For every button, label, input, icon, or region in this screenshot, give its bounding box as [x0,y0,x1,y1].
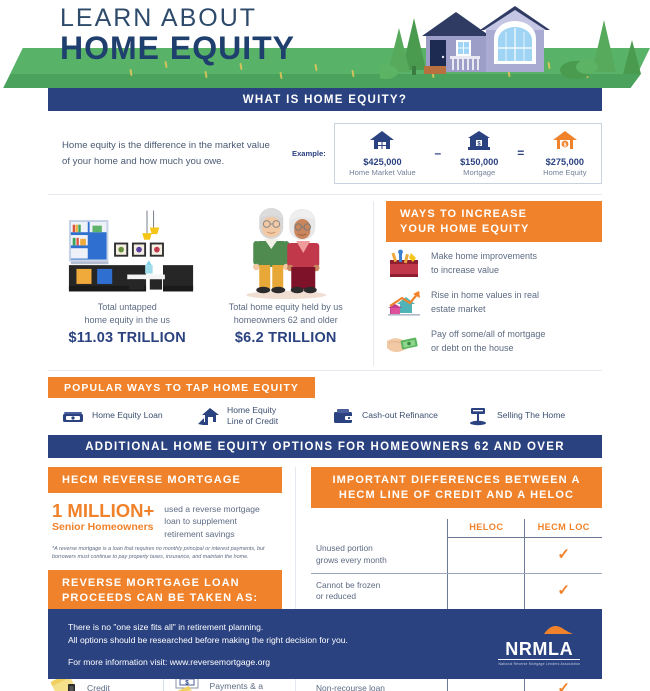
check-icon: ✓ [557,583,570,598]
million-stat-number: 1 MILLION+ [52,501,154,520]
for-sale-sign-icon [467,406,489,426]
popular-way-item: Selling The Home [467,406,598,426]
proceeds-banner-line-2: PROCEEDS CAN BE TAKEN AS: [62,591,268,606]
way-text-line-2: to increase value [431,265,499,275]
way-text-line-1: Rise in home values in real [431,290,539,300]
nrmla-logo: NRMLA National Reverse Mortgage Lenders … [498,622,584,666]
example-label: Example: [292,149,326,158]
additional-options-banner: ADDITIONAL HOME EQUITY OPTIONS FOR HOMEO… [48,435,602,458]
stat-senior-equity: Total home equity held by us homeowners … [207,201,366,366]
home-equity-description: Home equity is the difference in the mar… [62,138,280,169]
hecm-reverse-mortgage-banner: HECM REVERSE MORTGAGE [48,467,282,493]
bank-icon: $ [466,129,492,151]
row-label-line-1: Unused portion [316,543,373,553]
popular-way-text: Home Equity Loan [92,410,163,422]
row-label-line-2: or reduced [316,591,356,601]
way-text-line-2: estate market [431,304,486,314]
way-text: Pay off some/all of mortgage or debt on … [431,328,545,355]
check-icon: ✓ [557,681,570,691]
example-label-text: Home Equity [543,168,586,177]
example-item-mortgage: $ $150,000 Mortgage [460,129,498,177]
comparison-banner-line-2: HECM LINE OF CREDIT AND A HELOC [325,488,588,503]
ways-list: Make home improvements to increase value [386,249,602,357]
cash-in-hand-icon [386,327,422,357]
example-amount: $275,000 [543,157,586,167]
footer-text: There is no "one size fits all" in retir… [68,621,498,667]
popular-way-item: Cash-out Refinance [332,406,463,426]
nrmla-wordmark: NRMLA [498,640,580,660]
stat-caption: Total untapped home equity in the us [52,301,203,327]
heloc-cell [448,573,525,610]
popular-way-line-1: Home Equity [227,405,276,415]
footer-line-1: There is no "one size fits all" in retir… [68,621,498,634]
footer: There is no "one size fits all" in retir… [48,609,602,679]
example-amount: $425,000 [349,157,416,167]
stat-value: $6.2 TRILLION [211,330,362,346]
popular-way-item: Home Equity Line of Credit [197,405,328,428]
page-title: LEARN ABOUT HOME EQUITY [60,4,295,66]
toolbox-icon [386,249,422,279]
what-is-home-equity-banner: WHAT IS HOME EQUITY? [48,88,602,111]
ways-to-increase-banner: WAYS TO INCREASE YOUR HOME EQUITY [386,201,602,242]
example-card: $425,000 Home Market Value – $ $150,000 … [334,123,602,184]
proceeds-line-2: Payments & a [210,681,264,691]
popular-way-text: Cash-out Refinance [362,410,438,422]
title-line-1: LEARN ABOUT [60,4,295,32]
svg-text:$: $ [563,142,566,148]
stats-and-ways-section: Total untapped home equity in the us $11… [0,195,650,370]
popular-way-line-1: Selling The Home [497,410,565,420]
example-amount: $150,000 [460,157,498,167]
minus-operator: – [433,146,444,160]
title-line-2: HOME EQUITY [60,32,295,66]
row-label-line-2: grows every month [316,555,387,565]
stat-caption-line-2: homeowners 62 and older [234,315,338,325]
stat-caption-line-1: Total untapped [98,302,157,312]
footer-line-2: All options should be researched before … [68,634,498,647]
million-stat-subtitle: Senior Homeowners [52,521,154,534]
house-icon [369,129,395,151]
example-label-text: Mortgage [460,168,498,177]
heloc-cell [448,537,525,573]
house-scene-illustration [380,0,650,88]
hecm-footnote: *A reverse mortgage is a loan that requi… [48,540,282,562]
senior-couple-illustration [211,201,362,299]
ways-banner-line-1: WAYS TO INCREASE [400,207,588,222]
svg-text:$: $ [185,679,189,686]
house-arrow-icon [197,406,219,426]
row-label-line-1: Cannot be frozen [316,580,380,590]
house-equity-icon: $ [552,129,578,151]
comparison-banner-line-1: IMPORTANT DIFFERENCES BETWEEN A [325,473,588,488]
table-row: Cannot be frozen or reduced ✓ [311,573,602,610]
popular-way-line-1: Home Equity Loan [92,410,163,420]
stat-caption-line-1: Total home equity held by us [229,302,343,312]
example-item-market-value: $425,000 Home Market Value [349,129,416,177]
column-header-heloc: HELOC [448,519,525,538]
cash-stack-icon [62,406,84,426]
million-stat: 1 MILLION+ Senior Homeowners used a reve… [48,493,282,540]
footer-line-3: For more information visit: www.reversem… [68,657,498,667]
popular-way-item: Home Equity Loan [62,406,193,426]
header: LEARN ABOUT HOME EQUITY [0,0,650,88]
column-header-hecm-loc: HECM LOC [525,519,602,538]
popular-way-line-1: Cash-out Refinance [362,410,438,420]
stat-untapped-equity: Total untapped home equity in the us $11… [48,201,207,366]
way-text: Make home improvements to increase value [431,250,537,277]
popular-ways-list: Home Equity Loan Home Equity Line of Cre… [48,398,602,435]
popular-way-text: Selling The Home [497,410,565,422]
example-item-home-equity: $ $275,000 Home Equity [543,129,586,177]
million-note-line-3: retirement savings [164,529,234,539]
way-text-line-1: Pay off some/all of mortgage [431,329,545,339]
ways-banner-line-2: YOUR HOME EQUITY [400,222,588,237]
popular-way-text: Home Equity Line of Credit [227,405,278,428]
table-header-row: HELOC HECM LOC [311,519,602,538]
hecm-cell: ✓ [525,573,602,610]
million-note-line-1: used a reverse mortgage [164,504,260,514]
nrmla-subtitle: National Reverse Mortgage Lenders Associ… [498,662,580,666]
ways-to-increase-section: WAYS TO INCREASE YOUR HOME EQUITY [374,201,602,366]
stats-group: Total untapped home equity in the us $11… [48,201,374,366]
column-header-blank [311,519,448,538]
hecm-cell: ✓ [525,537,602,573]
way-text: Rise in home values in real estate marke… [431,289,539,316]
way-item: Rise in home values in real estate marke… [386,288,602,318]
row-label-line-1: Non-recourse loan [316,683,385,691]
stat-caption: Total home equity held by us homeowners … [211,301,362,327]
million-stat-figure: 1 MILLION+ Senior Homeowners [52,501,154,534]
table-row: Unused portion grows every month ✓ [311,537,602,573]
stat-value: $11.03 TRILLION [52,330,203,346]
million-stat-note: used a reverse mortgage loan to suppleme… [164,501,260,540]
example-box: Example: $425,000 Home Market Value – [292,123,602,184]
way-text-line-1: Make home improvements [431,251,537,261]
wallet-icon [332,406,354,426]
popular-ways-banner: POPULAR WAYS TO TAP HOME EQUITY [48,377,315,398]
check-icon: ✓ [557,547,570,562]
nrmla-swoosh-icon [504,623,574,635]
infographic-page: LEARN ABOUT HOME EQUITY [0,0,650,691]
living-room-illustration [52,201,203,299]
popular-ways-section: POPULAR WAYS TO TAP HOME EQUITY Home Equ… [0,371,650,435]
stat-caption-line-2: home equity in the us [84,315,170,325]
equals-operator: = [515,146,526,160]
example-label-text: Home Market Value [349,168,416,177]
way-item: Pay off some/all of mortgage or debt on … [386,327,602,357]
popular-way-line-2: Line of Credit [227,416,278,426]
million-note-line-2: loan to supplement [164,516,237,526]
proceeds-banner: REVERSE MORTGAGE LOAN PROCEEDS CAN BE TA… [48,570,282,611]
row-label: Cannot be frozen or reduced [311,573,448,610]
proceeds-banner-line-1: REVERSE MORTGAGE LOAN [62,576,268,591]
way-text-line-2: or debt on the house [431,343,514,353]
rising-home-value-icon [386,288,422,318]
row-label: Unused portion grows every month [311,537,448,573]
comparison-banner: IMPORTANT DIFFERENCES BETWEEN A HECM LIN… [311,467,602,508]
what-is-section: Home equity is the difference in the mar… [0,111,650,194]
way-item: Make home improvements to increase value [386,249,602,279]
proceeds-line-2: Credit [87,683,110,691]
